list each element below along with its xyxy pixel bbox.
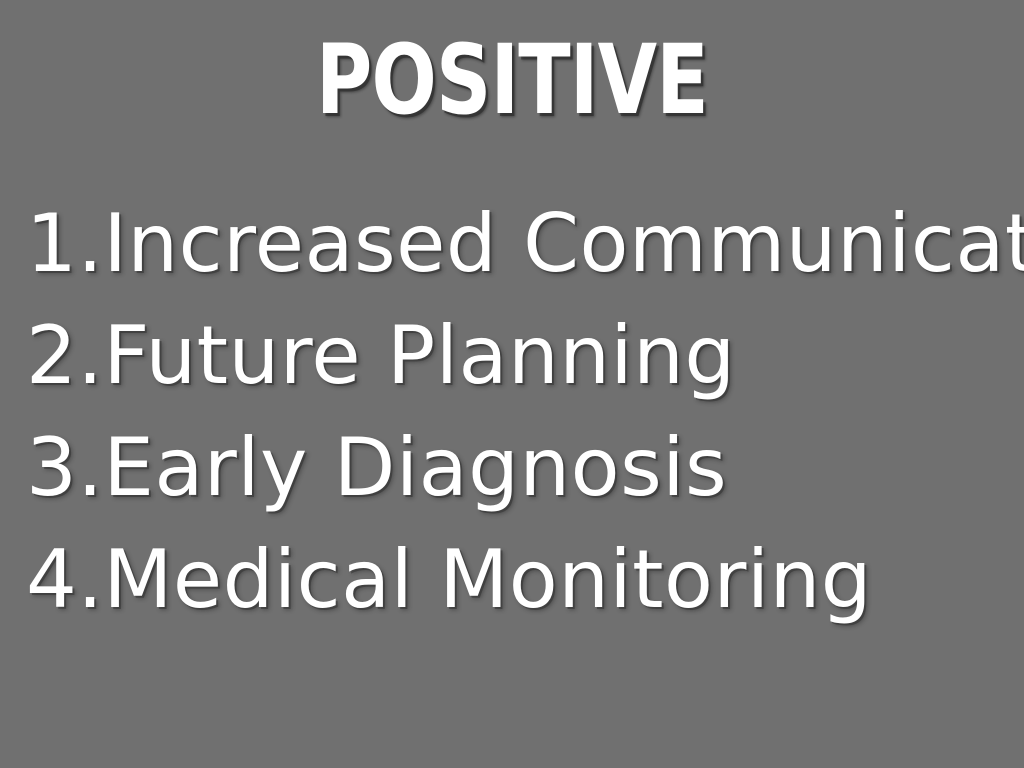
slide-canvas: POSITIVE 1. Increased Communication 2. F… bbox=[0, 0, 1024, 768]
list-item-number: 1. bbox=[26, 196, 103, 292]
list-item-number: 2. bbox=[26, 308, 103, 404]
list-item: 1. Increased Communication bbox=[26, 196, 1016, 308]
list-item-number: 4. bbox=[26, 532, 103, 628]
numbered-list: 1. Increased Communication 2. Future Pla… bbox=[26, 196, 1016, 644]
list-item: 2. Future Planning bbox=[26, 308, 1016, 420]
list-item-number: 3. bbox=[26, 420, 103, 516]
list-item-label: Increased Communication bbox=[103, 196, 1024, 292]
list-item-label: Early Diagnosis bbox=[103, 420, 727, 516]
list-item-label: Medical Monitoring bbox=[103, 532, 872, 628]
list-item: 3. Early Diagnosis bbox=[26, 420, 1016, 532]
page-title: POSITIVE bbox=[102, 28, 921, 132]
list-item: 4. Medical Monitoring bbox=[26, 532, 1016, 644]
list-item-label: Future Planning bbox=[103, 308, 735, 404]
